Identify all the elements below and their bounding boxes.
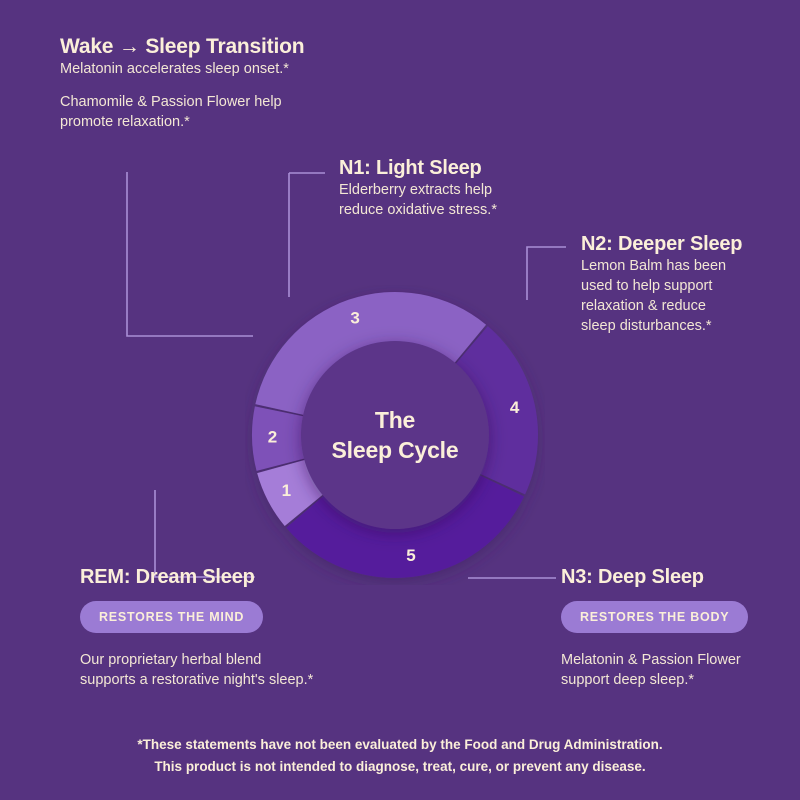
badge-restores-the-body: RESTORES THE BODY bbox=[561, 601, 748, 633]
block-wake-line2: Chamomile & Passion Flower help promote … bbox=[60, 92, 380, 132]
connector-rem bbox=[155, 490, 255, 577]
block-n1: N1: Light Sleep Elderberry extracts help… bbox=[339, 157, 569, 220]
block-n2-body: Lemon Balm has been used to help support… bbox=[581, 256, 791, 336]
footer-line2: This product is not intended to diagnose… bbox=[0, 756, 800, 778]
block-wake: Wake → Sleep Transition Melatonin accele… bbox=[60, 35, 380, 132]
block-n3: N3: Deep Sleep RESTORES THE BODY Melaton… bbox=[561, 566, 800, 690]
block-rem-body: Our proprietary herbal blend supports a … bbox=[80, 650, 380, 690]
sleep-cycle-donut: 12345 The Sleep Cycle bbox=[245, 285, 545, 585]
block-n1-title: N1: Light Sleep bbox=[339, 157, 569, 180]
block-n1-body: Elderberry extracts help reduce oxidativ… bbox=[339, 180, 569, 220]
donut-center-text: The Sleep Cycle bbox=[245, 285, 545, 585]
block-wake-title: Wake → Sleep Transition bbox=[60, 35, 380, 59]
block-n3-body: Melatonin & Passion Flower support deep … bbox=[561, 650, 800, 690]
footer-disclaimer: *These statements have not been evaluate… bbox=[0, 734, 800, 778]
block-n2-title: N2: Deeper Sleep bbox=[581, 233, 791, 256]
block-n3-title: N3: Deep Sleep bbox=[561, 566, 800, 589]
badge-restores-the-mind: RESTORES THE MIND bbox=[80, 601, 263, 633]
infographic-canvas: Wake → Sleep Transition Melatonin accele… bbox=[0, 0, 800, 800]
block-wake-line1: Melatonin accelerates sleep onset.* bbox=[60, 59, 380, 79]
donut-center-line1: The bbox=[375, 405, 415, 435]
footer-line1: *These statements have not been evaluate… bbox=[0, 734, 800, 756]
donut-center-line2: Sleep Cycle bbox=[332, 435, 459, 465]
connector-wake bbox=[127, 172, 253, 336]
block-n2: N2: Deeper Sleep Lemon Balm has been use… bbox=[581, 233, 791, 336]
